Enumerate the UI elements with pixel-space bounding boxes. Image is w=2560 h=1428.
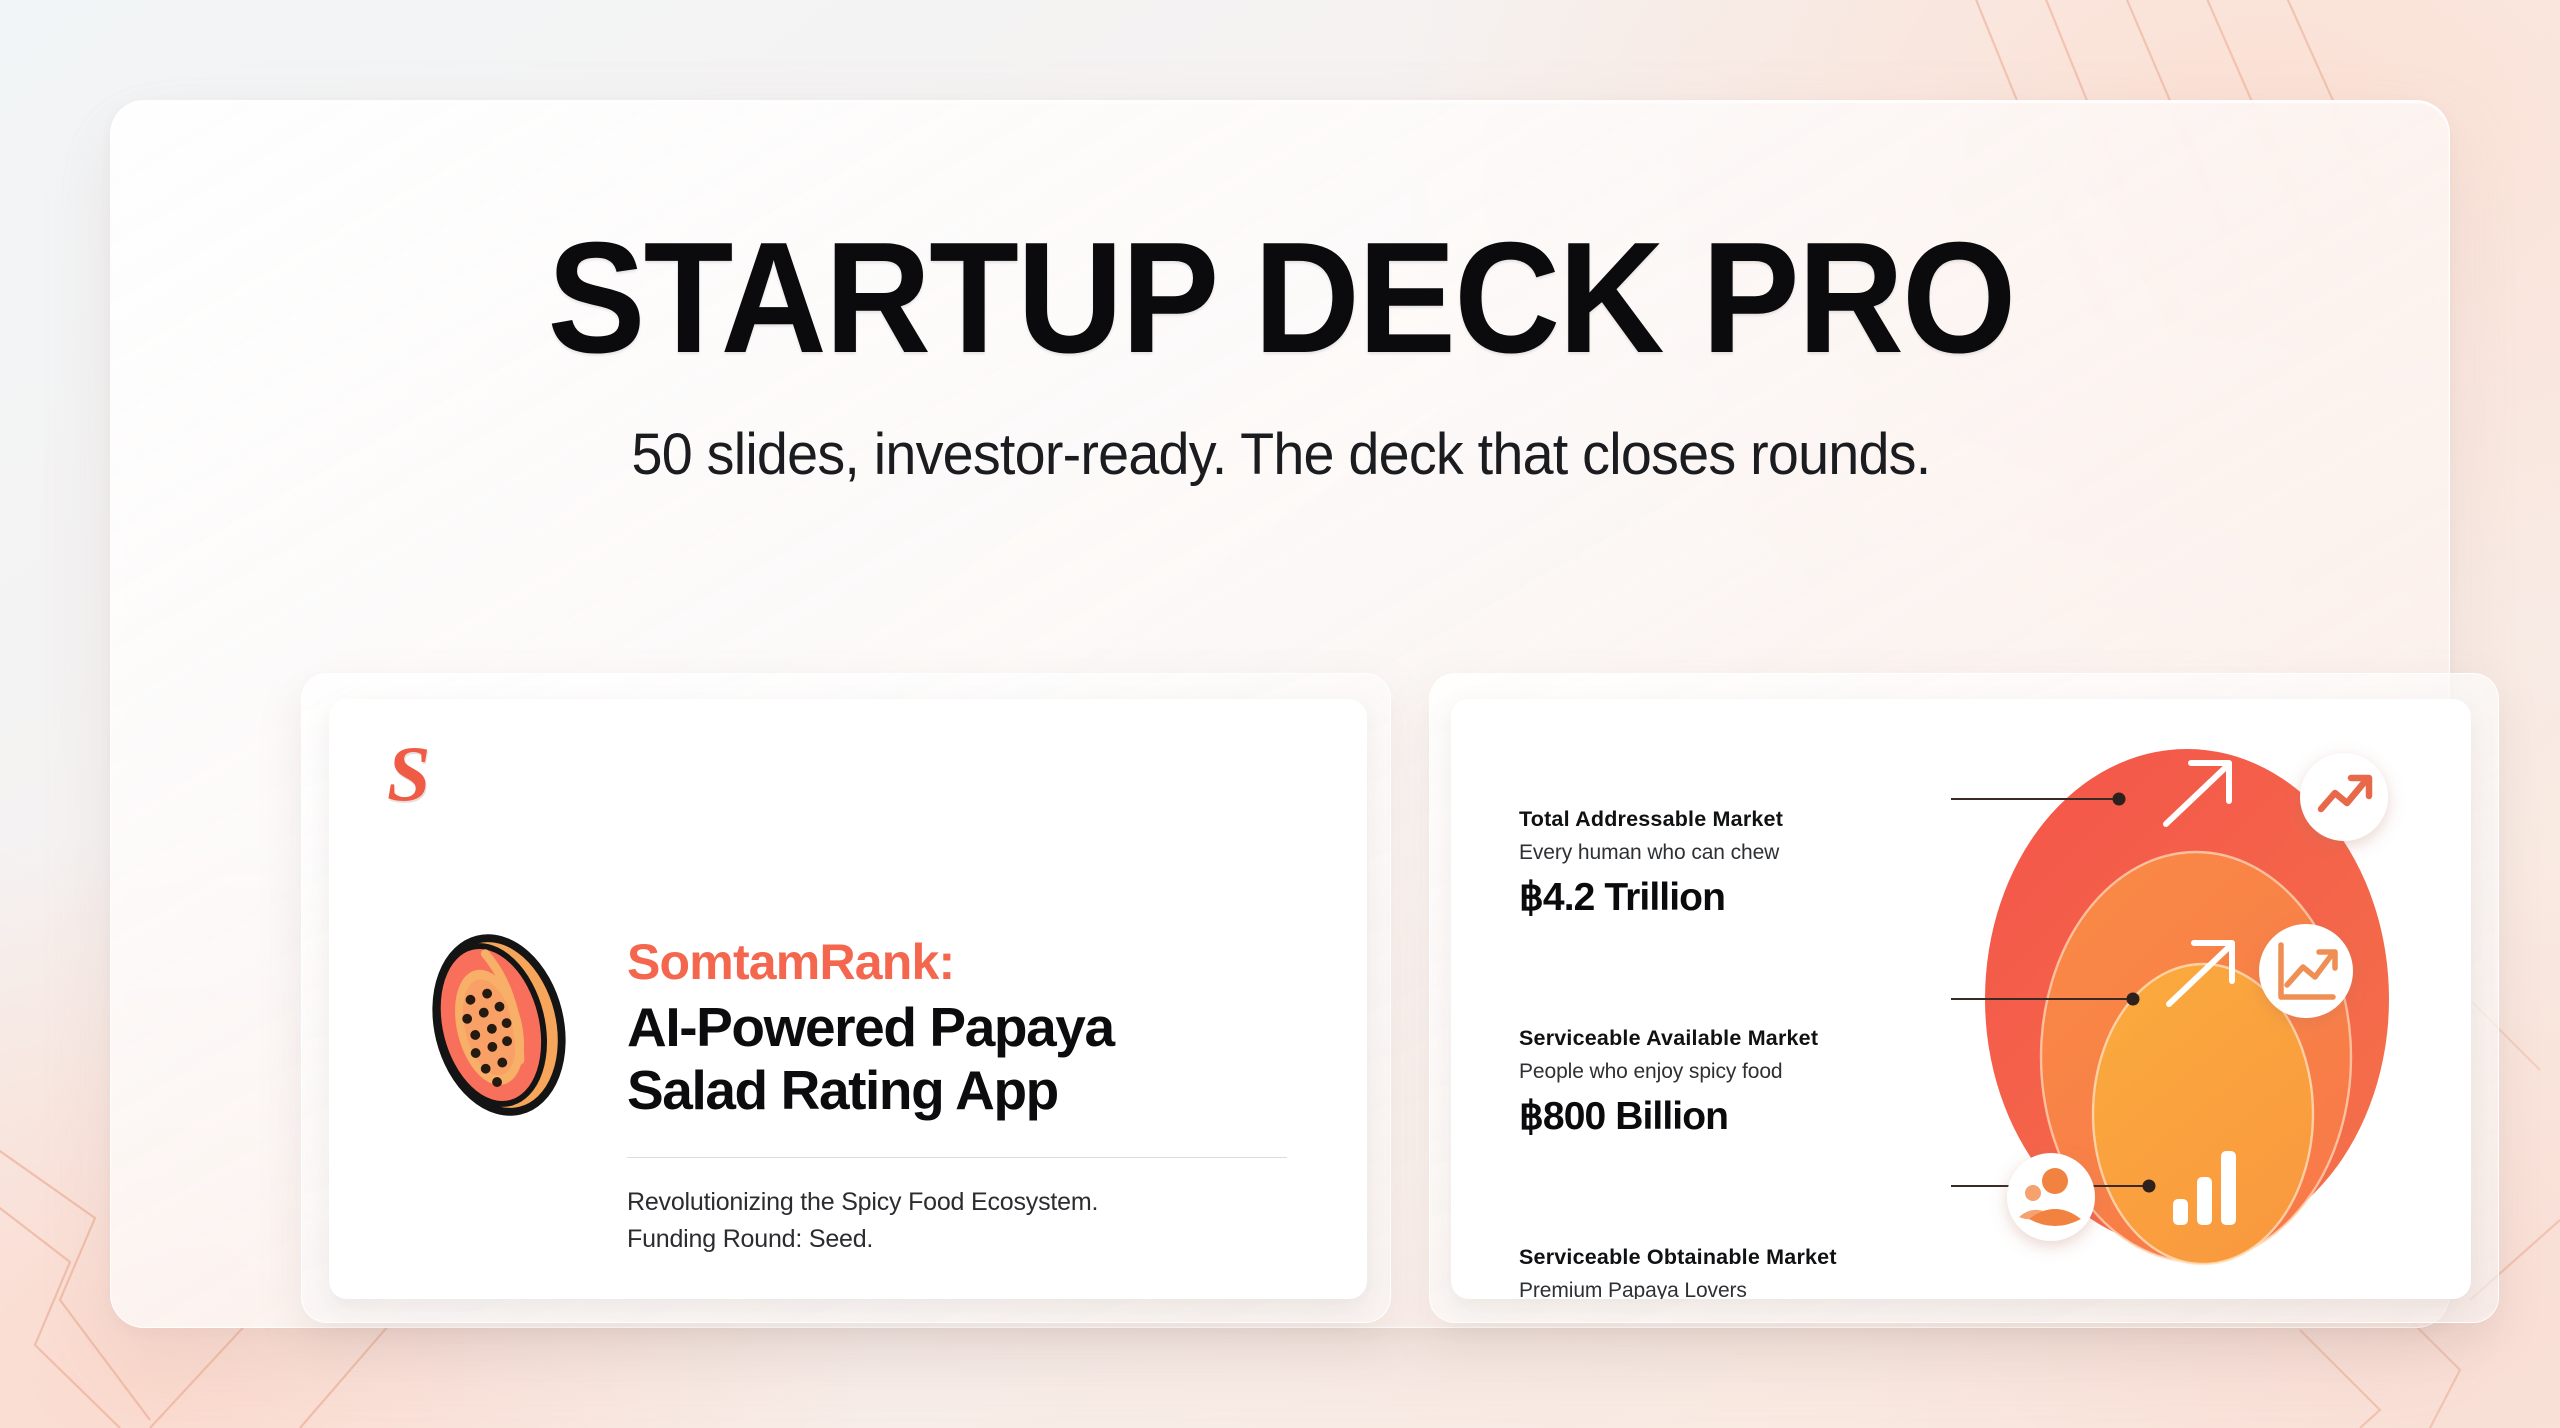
- papaya-half-icon: [401, 927, 597, 1123]
- headline-group: STARTUP DECK PRO 50 slides, investor-rea…: [111, 219, 2451, 488]
- badge-trending-up: [2300, 753, 2388, 841]
- badge-chart-line: [2259, 924, 2353, 1018]
- somtam-s-logo-icon: S: [387, 735, 430, 813]
- slide-left-text-group: SomtamRank: AI-Powered Papaya Salad Rati…: [627, 934, 1317, 1258]
- page-subtitle: 50 slides, investor-ready. The deck that…: [158, 421, 2404, 488]
- main-panel: STARTUP DECK PRO 50 slides, investor-rea…: [110, 100, 2450, 1328]
- badge-users: [2007, 1153, 2095, 1241]
- slide-eyebrow: SomtamRank:: [627, 934, 1317, 990]
- slide-card-title-slide[interactable]: S: [329, 699, 1367, 1299]
- slide-heading: AI-Powered Papaya Salad Rating App: [627, 996, 1317, 1121]
- divider: [627, 1157, 1287, 1158]
- screenshot-root: STARTUP DECK PRO 50 slides, investor-rea…: [0, 0, 2560, 1428]
- slide-footnote: Revolutionizing the Spicy Food Ecosystem…: [627, 1184, 1317, 1258]
- market-sizing-diagram: [1951, 699, 2471, 1299]
- page-title: STARTUP DECK PRO: [193, 219, 2369, 377]
- slide-card-market-sizing[interactable]: Total Addressable Market Every human who…: [1451, 699, 2471, 1299]
